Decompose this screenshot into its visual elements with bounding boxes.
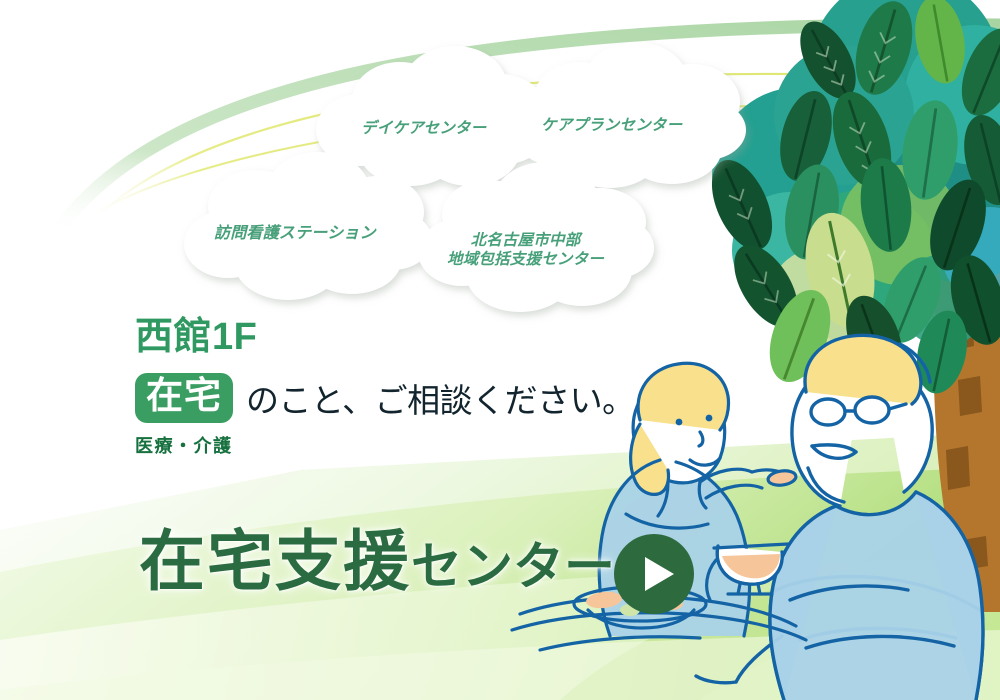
play-triangle-icon xyxy=(645,557,674,591)
home-support-center-banner: デイケアセンター ケアプランセンター 訪問看護ステーション 北名古屋市中部 地域… xyxy=(0,0,1000,700)
page-title-kana: センター xyxy=(411,538,615,595)
medical-care-subtitle: 医療・介護 xyxy=(135,432,635,458)
home-care-badge: 在宅 xyxy=(135,373,233,423)
headline-copy-block: 西館1F 在宅 のこと、ご相談ください。 医療・介護 xyxy=(135,318,635,458)
play-video-button[interactable] xyxy=(614,534,694,614)
consult-message: のこと、ご相談ください。 xyxy=(246,374,635,422)
page-title-kanji: 在宅支援 xyxy=(139,524,411,598)
floor-label: 西館1F xyxy=(135,318,635,356)
consult-row: 在宅 のこと、ご相談ください。 xyxy=(135,373,635,423)
page-title: 在宅支援センター xyxy=(139,528,615,594)
